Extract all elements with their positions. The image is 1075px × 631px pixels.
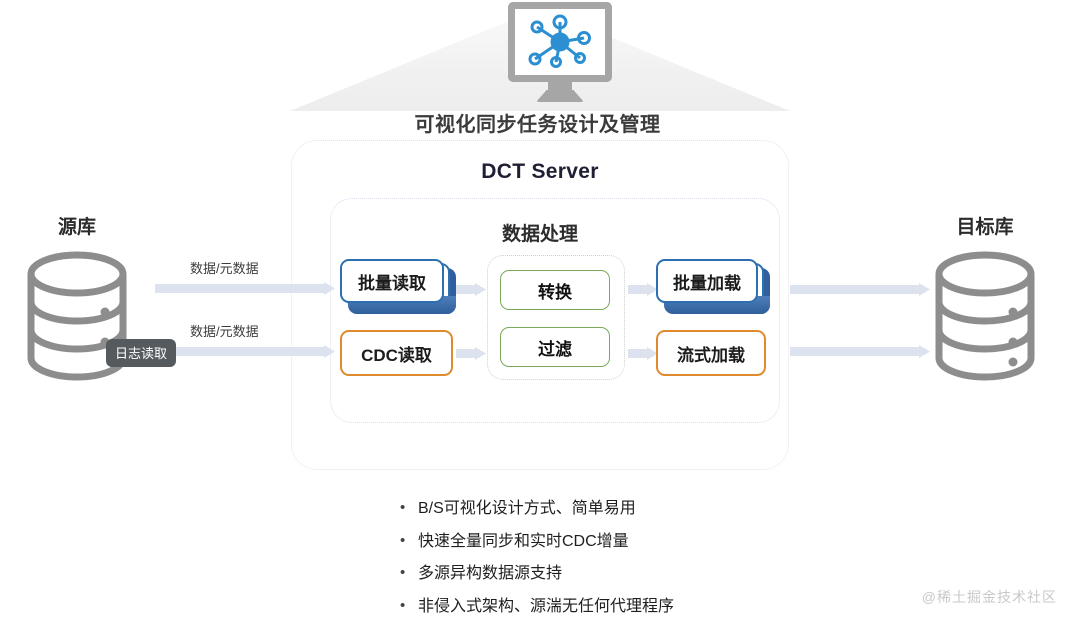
bullet-marker: • xyxy=(400,533,418,550)
arrow-shaft xyxy=(628,349,647,358)
list-item-label: 快速全量同步和实时CDC增量 xyxy=(418,533,629,551)
arrow-head xyxy=(475,347,486,360)
list-item: • 多源异构数据源支持 xyxy=(400,565,820,583)
arrow-head xyxy=(324,282,335,295)
arrow-shaft xyxy=(456,349,475,358)
arrow-head xyxy=(919,283,930,296)
diagram-canvas: 可视化同步任务设计及管理 DCT Server 数据处理 源库 日志读取 数据/… xyxy=(0,0,1075,631)
arrow-cdc-read-to-filter xyxy=(456,347,486,360)
batch-load-node[interactable]: 批量加载 xyxy=(656,259,758,303)
arrow-filter-to-stream-load xyxy=(628,347,658,360)
arrow-stream-load-to-target xyxy=(790,345,930,358)
list-item-label: 非侵入式架构、源湍无任何代理程序 xyxy=(418,598,674,616)
arrow-head xyxy=(919,345,930,358)
arrow-shaft xyxy=(790,347,919,356)
visual-management-title: 可视化同步任务设计及管理 xyxy=(0,108,1075,137)
target-db-label: 目标库 xyxy=(930,212,1040,239)
arrow-source-to-cdc-read xyxy=(155,345,335,358)
cdc-read-node[interactable]: CDC读取 xyxy=(340,330,453,376)
filter-node[interactable]: 过滤 xyxy=(500,327,610,367)
network-graph-icon xyxy=(522,14,598,70)
log-read-badge: 日志读取 xyxy=(106,339,176,367)
monitor-network-icon xyxy=(508,2,612,102)
target-database-icon xyxy=(933,250,1037,382)
flow-label-in-bottom: 数据/元数据 xyxy=(190,321,259,340)
feature-list: • B/S可视化设计方式、简单易用 • 快速全量同步和实时CDC增量 • 多源异… xyxy=(400,500,820,630)
arrow-transform-to-batch-load xyxy=(628,283,658,296)
bullet-marker: • xyxy=(400,565,418,582)
arrow-shaft xyxy=(628,285,647,294)
transform-node[interactable]: 转换 xyxy=(500,270,610,310)
list-item: • B/S可视化设计方式、简单易用 xyxy=(400,500,820,518)
arrow-batch-read-to-transform xyxy=(456,283,486,296)
arrow-shaft xyxy=(155,347,324,356)
list-item-label: 多源异构数据源支持 xyxy=(418,565,562,583)
arrow-shaft xyxy=(456,285,475,294)
arrow-source-to-batch-read xyxy=(155,282,335,295)
list-item: • 快速全量同步和实时CDC增量 xyxy=(400,533,820,551)
bullet-marker: • xyxy=(400,500,418,517)
arrow-head xyxy=(475,283,486,296)
dct-server-title: DCT Server xyxy=(290,160,790,184)
stream-load-node[interactable]: 流式加载 xyxy=(656,330,766,376)
data-processing-title: 数据处理 xyxy=(330,219,750,246)
source-db-label: 源库 xyxy=(22,212,132,239)
arrow-shaft xyxy=(790,285,919,294)
list-item-label: B/S可视化设计方式、简单易用 xyxy=(418,500,636,518)
list-item: • 非侵入式架构、源湍无任何代理程序 xyxy=(400,598,820,616)
arrow-batch-load-to-target xyxy=(790,283,930,296)
monitor-base xyxy=(536,90,584,102)
arrow-shaft xyxy=(155,284,324,293)
watermark: @稀土掘金技术社区 xyxy=(922,587,1057,607)
batch-read-node[interactable]: 批量读取 xyxy=(340,259,444,303)
bullet-marker: • xyxy=(400,598,418,615)
flow-label-in-top: 数据/元数据 xyxy=(190,258,259,277)
arrow-head xyxy=(324,345,335,358)
